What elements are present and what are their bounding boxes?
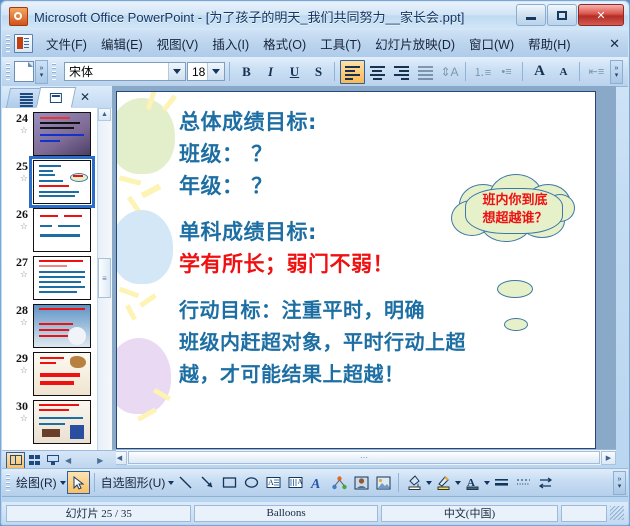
slide-number: 24 (8, 112, 28, 124)
normal-view-button[interactable] (6, 452, 25, 469)
bubble-line-2: 想超越谁？ (482, 211, 547, 226)
svg-text:A: A (310, 477, 320, 490)
draw-menu-button[interactable]: 绘图(R) (14, 474, 59, 491)
clip-art-icon (354, 476, 369, 490)
formatting-toolbar-overflow[interactable]: »▾ (610, 60, 623, 84)
scroll-left-icon[interactable]: ◀ (65, 456, 71, 465)
select-objects-button[interactable] (67, 471, 90, 494)
align-left-icon (345, 66, 360, 78)
animation-star-icon: ☆ (8, 222, 28, 231)
slide-number: 30 (8, 400, 28, 412)
hscroll-right-button[interactable]: ▶ (601, 451, 616, 465)
slideshow-icon (47, 455, 59, 465)
slide-thumbnail[interactable] (33, 304, 91, 348)
menu-tools[interactable]: 工具(T) (313, 31, 368, 56)
align-right-icon (394, 66, 409, 78)
ray-decoration (139, 293, 157, 307)
animation-star-icon: ☆ (8, 366, 28, 375)
slide-line-6: 行动目标：注重平时，明确 (179, 294, 479, 326)
line-color-arrow-icon[interactable] (455, 481, 461, 488)
ray-decoration (119, 287, 140, 299)
thought-tail-large (497, 280, 533, 298)
animation-star-icon: ☆ (8, 174, 28, 183)
slide-line-4: 单科成绩目标: (179, 216, 479, 248)
rectangle-button[interactable] (219, 472, 240, 493)
rectangle-icon (222, 476, 237, 489)
toolbar-separator (229, 62, 230, 81)
pane-scroll-up-button[interactable]: ▲ (98, 108, 111, 121)
status-bar: 幻灯片 25 / 35 Balloons 中文(中国) (2, 502, 628, 524)
line-icon (178, 475, 193, 490)
autoshapes-menu-arrow-icon[interactable] (168, 481, 174, 488)
animation-star-icon: ☆ (8, 318, 28, 327)
status-spare-field (561, 505, 607, 522)
menu-insert[interactable]: 插入(I) (205, 31, 256, 56)
align-right-button[interactable] (390, 61, 413, 83)
vertical-text-box-button[interactable]: A (285, 472, 306, 493)
standard-toolbar-overflow[interactable]: »▾ (35, 60, 48, 84)
slide-line-2: 班级： ？ (179, 138, 479, 170)
slide-line-5: 学有所长；弱门不弱！ (179, 248, 479, 280)
slide-thumbnail[interactable] (33, 400, 91, 444)
menu-window[interactable]: 窗口(W) (462, 31, 521, 56)
underline-button[interactable]: U (283, 61, 306, 83)
slide-counter: 幻灯片 25 / 35 (6, 505, 191, 522)
menu-slideshow[interactable]: 幻灯片放映(D) (368, 31, 462, 56)
toolbar-separator (94, 473, 95, 492)
list-item[interactable]: 24 ☆ (2, 108, 98, 156)
minimize-button[interactable] (516, 4, 546, 26)
slide-number: 27 (8, 256, 28, 268)
pane-tab-strip: ✕ (2, 86, 112, 108)
line-style-button[interactable] (491, 472, 512, 493)
vertical-text-box-icon: A (288, 476, 303, 489)
align-left-button[interactable] (340, 60, 365, 84)
list-item[interactable]: 30 ☆ (2, 396, 98, 444)
bold-button[interactable]: B (235, 61, 258, 83)
slide-horizontal-scrollbar[interactable]: ◀ ⋯ ▶ (112, 449, 616, 465)
balloon-purple-decoration (116, 338, 171, 414)
ray-decoration (141, 184, 161, 199)
font-name-combo[interactable]: 宋体 (64, 62, 186, 81)
italic-button[interactable]: I (259, 61, 282, 83)
line-button[interactable] (175, 472, 196, 493)
menu-format[interactable]: 格式(O) (256, 31, 313, 56)
arrow-icon (200, 475, 215, 490)
select-arrow-icon (72, 476, 85, 490)
font-name-dropdown-icon[interactable] (168, 63, 185, 80)
slide-line-3: 年级： ？ (179, 170, 479, 202)
toolbar-separator (579, 62, 580, 81)
menu-file[interactable]: 文件(F) (39, 31, 94, 56)
slide-thumbnail[interactable] (33, 352, 91, 396)
thumbnail-list[interactable]: 24 ☆ 25 ☆ (2, 108, 98, 465)
formatting-toolbar-grip[interactable] (52, 63, 56, 80)
increase-font-icon: A (534, 63, 545, 80)
title-bar: Microsoft Office PowerPoint - [为了孩子的明天_我… (2, 2, 628, 30)
increase-font-size-button[interactable]: A (528, 61, 551, 83)
underline-label: U (290, 64, 299, 80)
dash-style-button[interactable] (513, 472, 534, 493)
menu-bar: 文件(F) 编辑(E) 视图(V) 插入(I) 格式(O) 工具(T) 幻灯片放… (2, 30, 628, 58)
font-size-dropdown-icon[interactable] (207, 63, 224, 80)
document-icon (14, 34, 33, 53)
animation-star-icon: ☆ (8, 126, 28, 135)
powerpoint-icon (9, 7, 28, 26)
ray-decoration (119, 175, 142, 185)
line-spacing-button[interactable]: ⇕A (438, 61, 461, 83)
toolbar-separator (522, 62, 523, 81)
slides-pane: ✕ 24 ☆ 25 ☆ (2, 86, 113, 465)
slide-line-7: 班级内赶超对象，平时行动上超 (179, 326, 479, 358)
standard-toolbar-grip[interactable] (6, 63, 10, 80)
close-button[interactable]: ✕ (578, 4, 624, 26)
pane-scroll-thumb[interactable]: ≡ (98, 258, 111, 298)
text-gap (179, 280, 479, 294)
bold-label: B (242, 64, 251, 80)
pane-scrollbar[interactable]: ▲ ≡ ▼ (97, 108, 112, 465)
slideshow-button[interactable] (44, 453, 61, 468)
decrease-font-icon: A (560, 66, 568, 78)
ray-decoration (162, 94, 177, 111)
toolbar-separator (465, 62, 466, 81)
autoshapes-menu-button[interactable]: 自选图形(U) (99, 474, 168, 491)
drawing-toolbar-overflow[interactable]: »▾ (613, 471, 626, 495)
hscroll-thumb[interactable]: ⋯ (128, 451, 600, 464)
line-color-button[interactable] (433, 472, 454, 493)
list-item[interactable]: 27 ☆ (2, 252, 98, 300)
view-switch-bar: ◀ ▶ (2, 450, 116, 469)
balloon-blue-decoration (116, 210, 173, 284)
text-gap (179, 202, 479, 216)
slide-thumbnail[interactable] (33, 256, 91, 300)
diagram-button[interactable] (329, 472, 350, 493)
thought-bubble-callout[interactable]: 班内你到底 想超越谁？ (449, 172, 575, 252)
font-name-value: 宋体 (69, 63, 93, 80)
arrow-style-button[interactable] (535, 472, 556, 493)
indent-icon: ⇤≡ (589, 65, 605, 78)
line-style-icon (494, 476, 509, 489)
list-item[interactable]: 29 ☆ (2, 348, 98, 396)
menu-grip[interactable] (6, 35, 10, 52)
language-indicator[interactable]: 中文(中国) (381, 505, 558, 522)
decrease-indent-button[interactable]: ⇤≡ (585, 61, 608, 83)
text-box-button[interactable]: A (263, 472, 284, 493)
bulleted-list-icon: •≡ (501, 66, 511, 78)
menu-view[interactable]: 视图(V) (150, 31, 206, 56)
tab-slides[interactable] (36, 87, 76, 108)
svg-text:A: A (298, 478, 303, 486)
arrow-button[interactable] (197, 472, 218, 493)
dash-style-icon (516, 476, 531, 489)
shadow-button[interactable]: S (307, 61, 330, 83)
slide-sorter-icon (29, 455, 40, 465)
justify-button[interactable] (414, 61, 437, 83)
current-slide[interactable]: 总体成绩目标: 班级： ？ 年级： ？ 单科成绩目标: 学有所长；弱门不弱！ 行… (116, 91, 596, 449)
slides-icon (50, 93, 62, 103)
numbered-list-button[interactable]: ⒈≡ (471, 61, 494, 83)
view-scroll-arrows[interactable]: ◀ ▶ (65, 456, 103, 465)
outline-icon (19, 93, 32, 104)
oval-button[interactable] (241, 472, 262, 493)
resize-grip[interactable] (610, 506, 624, 520)
ray-decoration (125, 304, 137, 320)
fill-color-icon (407, 475, 422, 490)
distribute-icon (418, 66, 433, 78)
window-title: Microsoft Office PowerPoint - [为了孩子的明天_我… (34, 7, 464, 26)
bubble-line-1: 班内你到底 (482, 193, 547, 208)
bubble-text: 班内你到底 想超越谁？ (467, 192, 563, 228)
list-item[interactable]: 25 ☆ (2, 156, 98, 204)
clip-art-button[interactable] (351, 472, 372, 493)
thought-tail-small (504, 318, 528, 331)
oval-icon (244, 476, 259, 489)
menu-help[interactable]: 帮助(H) (521, 31, 577, 56)
arrow-style-icon (538, 476, 553, 490)
font-color-icon: A (465, 475, 480, 490)
fill-color-button[interactable] (404, 472, 425, 493)
line-color-icon (436, 475, 451, 490)
slide-sorter-button[interactable] (26, 453, 43, 468)
font-color-arrow-icon[interactable] (484, 481, 490, 488)
slide-number: 29 (8, 352, 28, 364)
slide-number: 28 (8, 304, 28, 316)
slide-thumbnail[interactable] (33, 112, 91, 156)
close-document-button[interactable]: ✕ (609, 36, 620, 52)
slide-line-8: 越，才可能结果上超越！ (179, 358, 479, 390)
draw-menu-arrow-icon[interactable] (60, 481, 66, 488)
formatting-toolbar: »▾ 宋体 18 B I U S (2, 57, 628, 87)
shadow-label: S (315, 64, 322, 80)
design-template-name[interactable]: Balloons (194, 505, 377, 522)
line-spacing-icon: ⇕A (440, 65, 458, 79)
svg-text:A: A (268, 478, 274, 487)
text-box-icon: A (266, 476, 281, 489)
diagram-icon (332, 476, 347, 490)
decrease-font-size-button[interactable]: A (552, 61, 575, 83)
window-controls: ✕ (516, 4, 624, 26)
toolbar-separator (334, 62, 335, 81)
list-item[interactable]: 28 ☆ (2, 300, 98, 348)
slide-line-1: 总体成绩目标: (179, 106, 479, 138)
scroll-right-icon[interactable]: ▶ (97, 456, 103, 465)
wordart-button[interactable]: A (307, 472, 328, 493)
new-document-icon[interactable] (14, 61, 34, 82)
italic-label: I (268, 64, 273, 80)
maximize-button[interactable] (547, 4, 577, 26)
menu-edit[interactable]: 编辑(E) (94, 31, 150, 56)
powerpoint-window: Microsoft Office PowerPoint - [为了孩子的明天_我… (0, 0, 630, 526)
toolbar-separator (398, 473, 399, 492)
animation-star-icon: ☆ (8, 270, 28, 279)
slide-body-text[interactable]: 总体成绩目标: 班级： ？ 年级： ？ 单科成绩目标: 学有所长；弱门不弱！ 行… (179, 106, 479, 390)
slide-editing-area: 总体成绩目标: 班级： ？ 年级： ？ 单科成绩目标: 学有所长；弱门不弱！ 行… (112, 86, 616, 465)
fill-color-arrow-icon[interactable] (426, 481, 432, 488)
drawing-toolbar: 绘图(R) 自选图形(U) A A A (2, 468, 628, 497)
animation-star-icon: ☆ (8, 414, 28, 423)
font-size-value: 18 (192, 65, 205, 79)
insert-picture-icon (376, 476, 391, 490)
bulleted-list-button[interactable]: •≡ (495, 61, 518, 83)
slide-thumbnail[interactable] (33, 208, 91, 252)
font-color-button[interactable]: A (462, 472, 483, 493)
font-size-combo[interactable]: 18 (187, 62, 225, 81)
list-item[interactable]: 26 ☆ (2, 204, 98, 252)
numbered-list-icon: ⒈≡ (474, 64, 491, 80)
insert-picture-button[interactable] (373, 472, 394, 493)
normal-view-icon (10, 455, 22, 465)
align-center-button[interactable] (366, 61, 389, 83)
slide-number: 25 (8, 160, 28, 172)
close-pane-button[interactable]: ✕ (80, 90, 90, 104)
align-center-icon (370, 66, 385, 78)
slide-number: 26 (8, 208, 28, 220)
slide-thumbnail-selected[interactable] (33, 160, 91, 204)
wordart-icon: A (310, 476, 325, 490)
drawing-toolbar-grip[interactable] (6, 474, 10, 491)
